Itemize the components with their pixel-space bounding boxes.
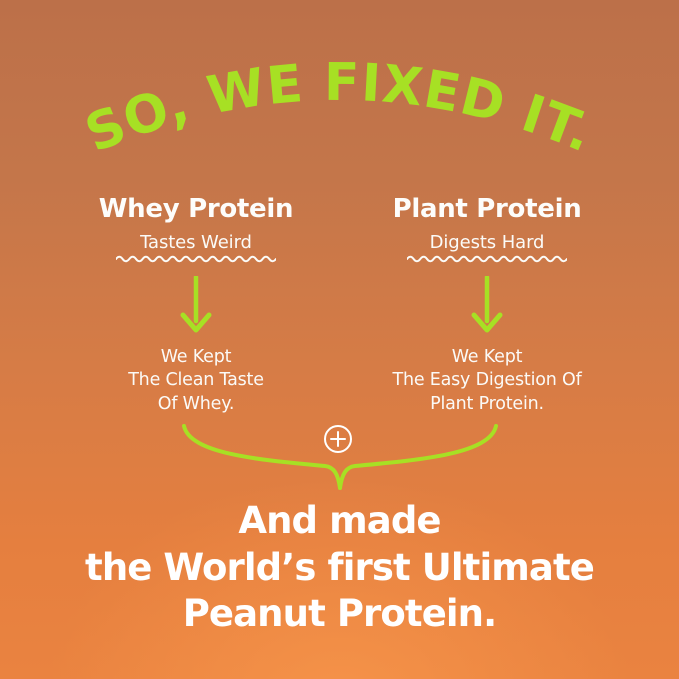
conclusion-headline: And made the World’s first Ultimate Pean… [0, 498, 679, 638]
arched-headline-text: SO, WE FIXED IT. [77, 53, 602, 165]
kept-line: The Easy Digestion Of [327, 369, 647, 392]
column-whey-protein: Whey Protein Tastes Weird [46, 196, 346, 263]
column-problem-plant: Digests Hard [407, 232, 567, 253]
kept-text-plant: We Kept The Easy Digestion Of Plant Prot… [327, 346, 647, 416]
kept-line: The Clean Taste [36, 369, 356, 392]
promo-poster: SO, WE FIXED IT. Whey Protein Tastes Wei… [0, 0, 679, 679]
column-problem-whey: Tastes Weird [116, 232, 276, 253]
squiggle-underline-icon [407, 254, 567, 263]
conclusion-line-2: the World’s first Ultimate [0, 545, 679, 592]
kept-line: We Kept [327, 346, 647, 369]
column-plant-protein: Plant Protein Digests Hard [337, 196, 637, 263]
conclusion-line-1: And made [0, 498, 679, 545]
down-arrow-icon [179, 276, 213, 334]
column-title-whey: Whey Protein [46, 196, 346, 223]
column-problem-whey-wrap: Tastes Weird [116, 232, 276, 263]
arched-headline: SO, WE FIXED IT. [0, 48, 679, 168]
column-problem-plant-wrap: Digests Hard [407, 232, 567, 263]
column-title-plant: Plant Protein [337, 196, 637, 223]
plus-circle-icon [323, 424, 353, 454]
kept-line: We Kept [36, 346, 356, 369]
squiggle-underline-icon [116, 254, 276, 263]
conclusion-line-3: Peanut Protein. [0, 591, 679, 638]
kept-text-whey: We Kept The Clean Taste Of Whey. [36, 346, 356, 416]
down-arrow-icon [470, 276, 504, 334]
